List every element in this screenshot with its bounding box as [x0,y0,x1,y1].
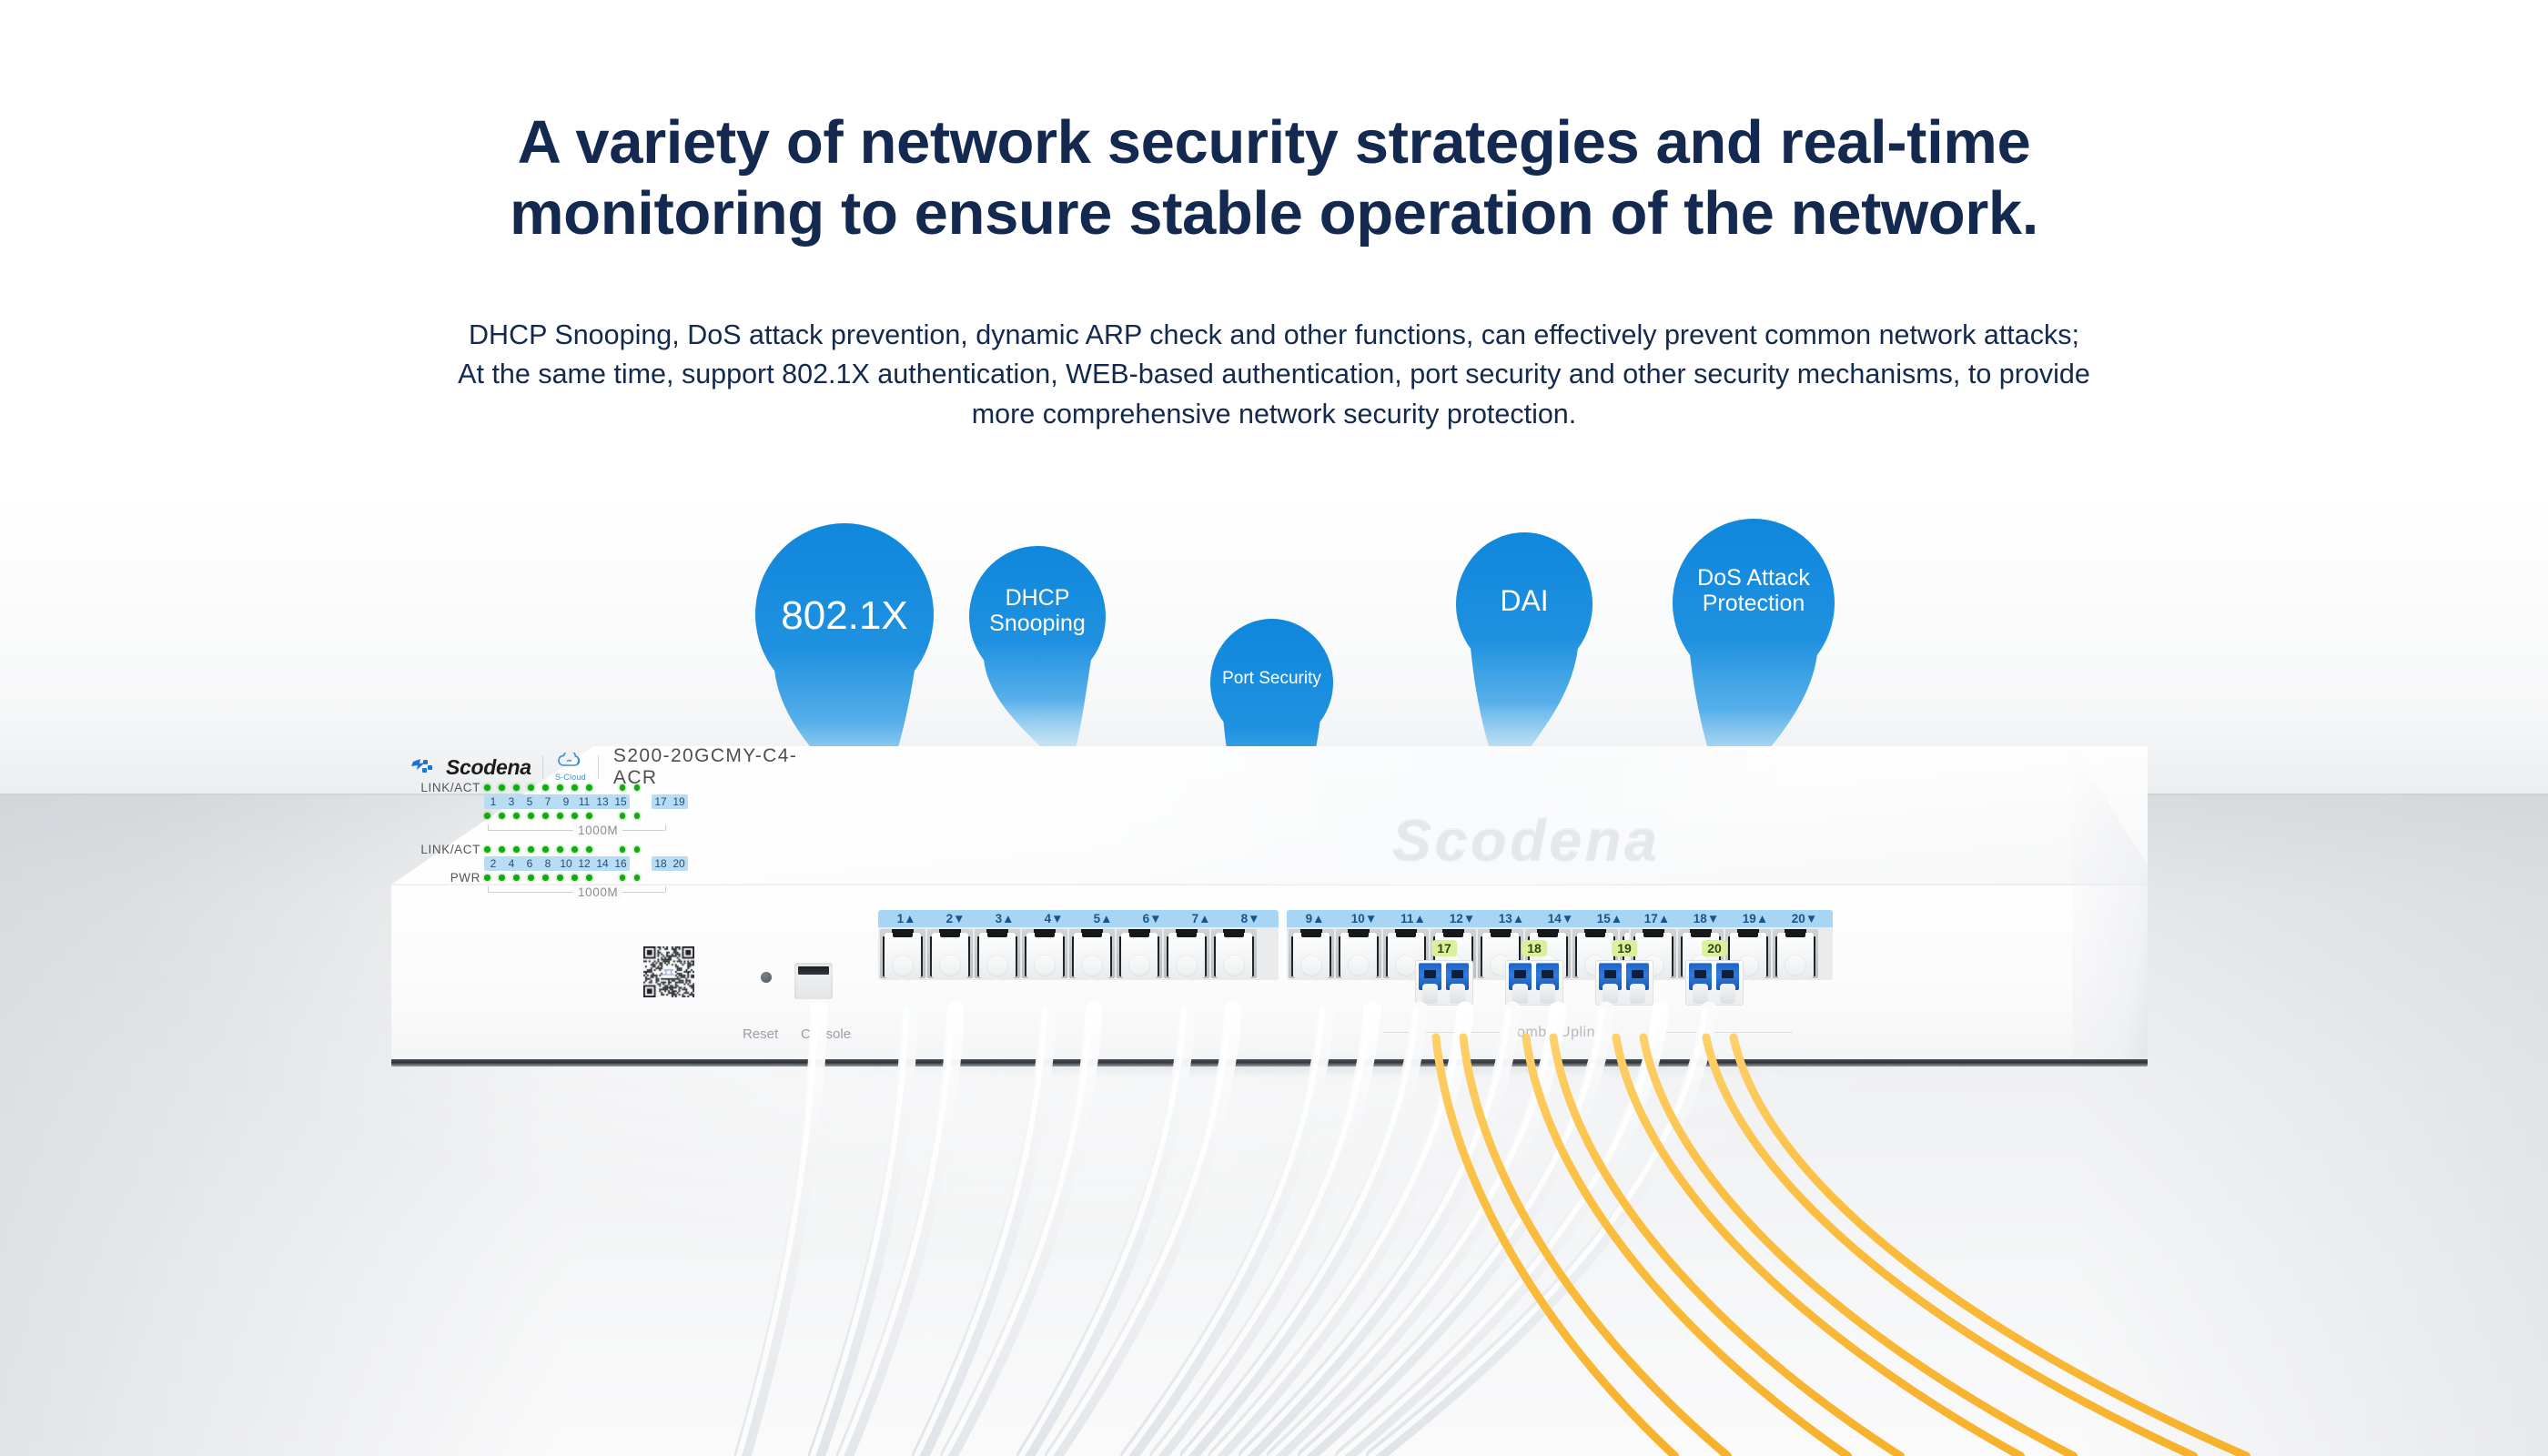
led-indicator [513,784,520,791]
rj45-port-number: 19▲ [1731,912,1780,925]
sfp-port[interactable]: 19 [1595,960,1653,1006]
callout-pin-label: Port Security [1210,670,1333,689]
rj45-bank: 1▲2▼3▲4▼5▲6▼7▲8▼ [878,910,1279,980]
callout-pin-label: DHCP Snooping [969,586,1106,636]
callout-pin-label: DoS Attack Protection [1673,566,1835,616]
rj45-plug [885,933,921,978]
scodena-logo-icon [411,757,435,777]
led-indicator [620,784,626,791]
led-group [484,846,592,853]
rj45-bank-header: 17▲18▼19▲20▼ [1629,910,1833,927]
rj45-plug-boss [1176,955,1198,976]
rj45-port-number: 2▼ [931,912,980,925]
rj45-port[interactable] [1117,929,1162,978]
rj45-plug-boss [1300,955,1322,976]
rj45-plug-boss [1128,955,1150,976]
switch-label-panel: Scodena S-Cloud S200-20GCMY-C4-ACR LINK/… [411,753,803,914]
rj45-port-row [878,927,1279,980]
led-row-caption: LINK/ACT [411,781,480,794]
rj45-plug [1216,933,1252,978]
combo-rule-right [1647,1032,1793,1033]
switch-contact-shadow [500,1063,2157,1096]
rj45-port[interactable] [1289,929,1334,978]
port-number: 20 [672,857,685,870]
sfp-port[interactable]: 20 [1685,960,1744,1006]
led-indicator [542,846,549,853]
led-indicator [499,875,505,881]
rj45-plug-boss [892,955,914,976]
sfp-port-number: 18 [1522,940,1547,956]
rj45-plug-boss [1223,955,1245,976]
led-row-caption: LINK/ACT [411,843,480,856]
led-indicator [634,813,641,819]
led-indicator [513,846,520,853]
rj45-port-number: 14▼ [1536,912,1585,925]
port-number: 7 [541,795,554,808]
model-number: S200-20GCMY-C4-ACR [613,745,803,789]
led-indicator [586,846,592,853]
rj45-port-number: 18▼ [1682,912,1731,925]
port-number: 14 [596,857,609,870]
led-indicator [571,813,578,819]
led-indicator [513,875,520,881]
s-cloud-label: S-Cloud [554,773,588,782]
rj45-plug-boss [1395,955,1417,976]
led-indicator [620,846,626,853]
port-number: 6 [523,857,536,870]
rj45-port-number: 3▲ [980,912,1029,925]
rj45-port[interactable] [1336,929,1381,978]
led-group [620,813,641,819]
rj45-bank-header: 9▲10▼11▲12▼13▲14▼15▲16▼ [1287,910,1687,927]
pwr-caption: PWR [411,871,480,885]
rj45-port-number: 1▲ [882,912,931,925]
callout-pin-layer [0,0,2548,1456]
callout-pin-label: DAI [1456,585,1592,617]
led-group [484,784,592,791]
port-number: 9 [560,795,572,808]
led-group [620,875,641,881]
speed-brace-right [622,886,655,897]
led-group [620,846,641,853]
led-indicator [542,875,549,881]
speed-marker-row: 1000M [488,885,803,899]
rj45-plug [1074,933,1110,978]
port-number-group: 13579111315 [484,794,630,809]
lc-boot [1422,984,1438,1004]
speed-label: 1000M [573,824,622,837]
led-indicator [499,813,505,819]
led-indicator [571,784,578,791]
port-number-strip: 2468101214161820 [484,856,803,871]
led-indicator [557,846,563,853]
port-number-group: 246810121416 [484,856,630,871]
sfp-port-number: 20 [1702,940,1727,956]
port-number: 8 [541,857,554,870]
port-number: 15 [614,795,627,808]
rj45-plug [1026,933,1063,978]
lc-boot [1540,984,1555,1004]
brand-name: Scodena [446,755,531,780]
sfp-port-number: 19 [1612,940,1637,956]
rj45-plug [1293,933,1330,978]
rj45-port-number: 15▲ [1585,912,1634,925]
console-label: Console [801,1026,851,1042]
port-number: 12 [578,857,591,870]
rj45-port[interactable] [975,929,1020,978]
rj45-port-number: 5▲ [1078,912,1127,925]
cloud-icon [555,753,586,769]
lc-boot [1603,984,1618,1004]
speed-label: 1000M [573,885,622,899]
led-row [411,809,803,823]
led-indicator [542,813,549,819]
port-number: 10 [560,857,572,870]
rj45-port-number: 4▼ [1029,912,1078,925]
lc-boot [1512,984,1528,1004]
led-group [484,875,592,881]
port-number: 18 [654,857,667,870]
led-indicator [557,813,563,819]
port-number-strip: 135791113151719 [484,794,803,809]
combo-rule-left [1383,1032,1500,1033]
rj45-port-number: 7▲ [1177,912,1226,925]
rj45-port-number: 9▲ [1290,912,1340,925]
sfp-port-number: 17 [1431,940,1457,956]
rj45-bank-header: 1▲2▼3▲4▼5▲6▼7▲8▼ [878,910,1279,927]
lc-boot [1693,984,1708,1004]
rj45-port-number: 12▼ [1438,912,1487,925]
port-number: 1 [487,795,500,808]
led-indicator [499,846,505,853]
lc-boot [1630,984,1645,1004]
led-group [620,784,641,791]
reset-button[interactable] [761,972,772,983]
port-number: 19 [672,795,685,808]
led-indicator-area: LINK/ACT1357911131517191000MLINK/ACT2468… [411,781,803,899]
port-number: 3 [505,795,518,808]
rj45-port[interactable] [880,929,925,978]
rj45-plug [932,933,968,978]
led-group [484,813,592,819]
port-number: 2 [487,857,500,870]
console-slot [798,966,829,975]
port-number-group: 1820 [652,856,688,871]
port-number: 5 [523,795,536,808]
led-indicator [499,784,505,791]
rj45-port-number: 6▼ [1127,912,1177,925]
speed-marker-row: 1000M [488,823,803,837]
led-indicator [528,813,534,819]
callout-pin-shape [969,546,1106,778]
led-indicator [586,875,592,881]
rj45-plug-boss [1348,955,1370,976]
rj45-plug [1340,933,1377,978]
rj45-plug-boss [1081,955,1103,976]
callout-pin-label: 802.1X [755,594,934,638]
port-number-group: 1719 [652,794,688,809]
rj45-port[interactable] [1069,929,1115,978]
rj45-port-number: 20▼ [1780,912,1829,925]
rj45-port-number: 10▼ [1340,912,1389,925]
s-cloud-logo: S-Cloud [554,753,588,782]
rj45-port[interactable] [1022,929,1067,978]
led-indicator [542,784,549,791]
port-number: 13 [596,795,609,808]
rj45-port[interactable] [927,929,973,978]
lc-boot [1720,984,1735,1004]
led-indicator [528,846,534,853]
reset-label: Reset [743,1026,778,1042]
led-indicator [586,813,592,819]
switch-embossed-logo: Scodena [1392,806,1661,874]
led-indicator [634,846,641,853]
speed-brace-right [622,824,655,835]
led-row: PWR [411,871,803,885]
qr-code-canvas [643,946,694,997]
sfp-port[interactable]: 18 [1505,960,1563,1006]
port-number: 17 [654,795,667,808]
led-indicator [484,875,490,881]
console-port[interactable] [794,963,833,999]
led-indicator [634,784,641,791]
rj45-port-number: 11▲ [1389,912,1438,925]
rj45-plug-boss [986,955,1008,976]
led-indicator [620,813,626,819]
rj45-port[interactable] [1164,929,1209,978]
led-indicator [571,875,578,881]
sfp-port-group: 17181920 [1415,960,1797,1069]
rj45-port-number: 13▲ [1487,912,1536,925]
rj45-plug [979,933,1016,978]
led-row: LINK/ACT [411,843,803,856]
rj45-plug-boss [939,955,961,976]
model-divider [598,755,599,779]
led-indicator [528,875,534,881]
led-indicator [634,875,641,881]
brand-divider [542,755,543,779]
rj45-port-number: 17▲ [1633,912,1682,925]
rj45-plug [1121,933,1158,978]
port-number: 4 [505,857,518,870]
rj45-port-number: 8▼ [1226,912,1275,925]
rj45-plug [1168,933,1205,978]
brand-row: Scodena S-Cloud S200-20GCMY-C4-ACR [411,753,803,781]
led-indicator [586,784,592,791]
rj45-port[interactable] [1211,929,1257,978]
led-indicator [484,813,490,819]
led-indicator [571,846,578,853]
led-indicator [557,784,563,791]
port-number: 11 [578,795,591,808]
port-number: 16 [614,857,627,870]
rj45-plug-boss [1034,955,1056,976]
led-indicator [557,875,563,881]
led-indicator [484,784,490,791]
sfp-port[interactable]: 17 [1415,960,1473,1006]
combo-uplink-label: Combo/Uplink [1506,1025,1603,1041]
lc-boot [1450,984,1465,1004]
led-indicator [513,813,520,819]
led-indicator [484,846,490,853]
led-indicator [620,875,626,881]
led-indicator [528,784,534,791]
